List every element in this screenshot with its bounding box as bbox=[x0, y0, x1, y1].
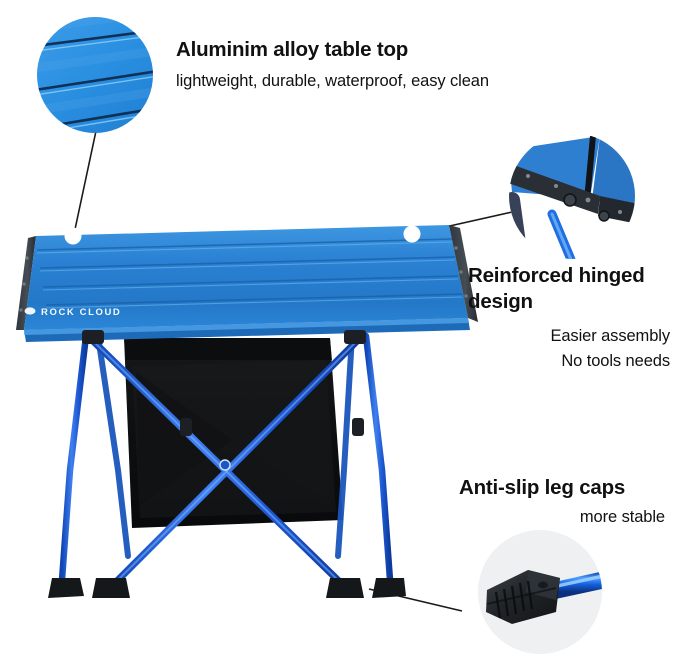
callout-title-table-top: Aluminim alloy table top bbox=[176, 38, 408, 62]
callout-subtitle-leg-caps: more stable bbox=[580, 508, 665, 527]
callout-title-leg-caps: Anti-slip leg caps bbox=[459, 476, 625, 500]
detail-circle-leg-cap bbox=[478, 530, 640, 654]
infographic-canvas: ROCK CLOUD bbox=[0, 0, 679, 660]
folding-table: ROCK CLOUD bbox=[16, 225, 478, 598]
leader-line-table-top bbox=[74, 131, 96, 234]
callout-title-hinge-line-1: Reinforced hinged bbox=[468, 264, 645, 288]
table-top-right-dot bbox=[404, 226, 421, 243]
detail-circle-hinge bbox=[505, 130, 648, 265]
table-top-left-dot bbox=[65, 228, 82, 245]
callout-subtitle-hinge-2: No tools needs bbox=[561, 352, 670, 371]
callout-subtitle-table-top: lightweight, durable, waterproof, easy c… bbox=[176, 72, 489, 91]
leg-caps bbox=[48, 578, 406, 598]
svg-text:ROCK CLOUD: ROCK CLOUD bbox=[41, 307, 121, 318]
callout-subtitle-hinge-1: Easier assembly bbox=[550, 327, 670, 346]
detail-circle-table-top bbox=[18, 10, 182, 135]
callout-title-hinge-line-2: design bbox=[468, 290, 533, 314]
storage-bag bbox=[124, 338, 343, 528]
table-top: ROCK CLOUD bbox=[16, 225, 478, 342]
